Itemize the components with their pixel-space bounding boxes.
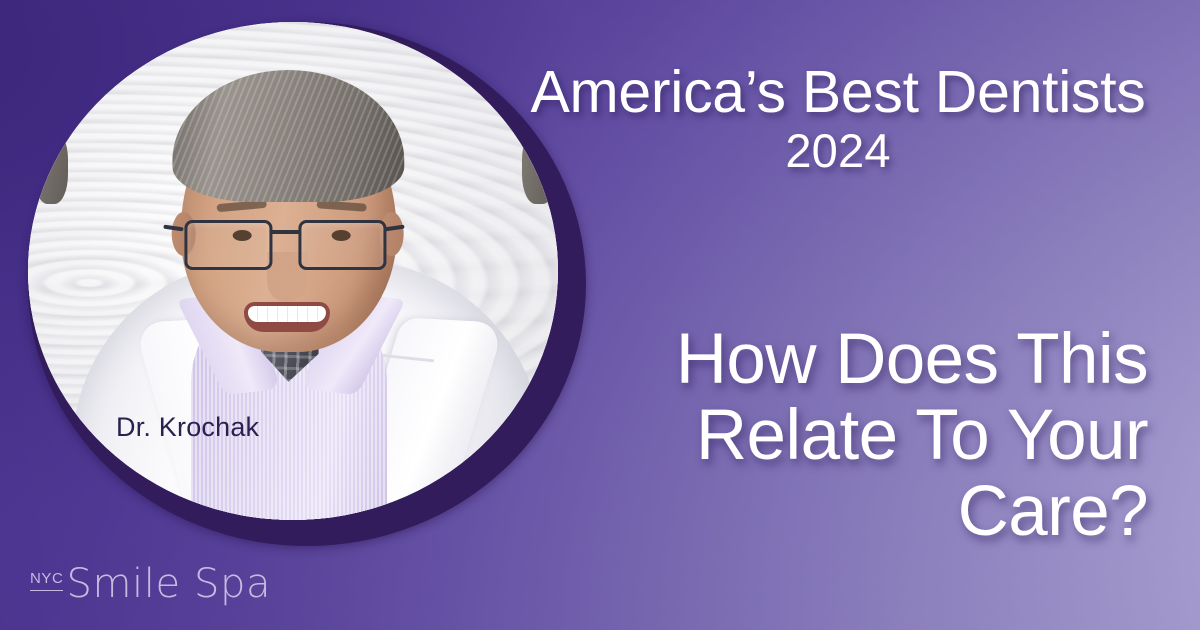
doctor-figure — [28, 22, 558, 520]
logo-wordmark: Smile Spa — [66, 565, 271, 604]
brand-logo[interactable]: NYC Smile Spa — [30, 565, 271, 604]
page-title: How Does This Relate To Your Care? — [508, 322, 1148, 550]
smiling-mouth — [244, 302, 330, 332]
award-title: America’s Best Dentists — [508, 62, 1168, 122]
headline-line-1: How Does This — [508, 322, 1148, 398]
doctor-name-label: Dr. Krochak — [116, 412, 259, 443]
hair — [172, 70, 404, 202]
eyeglass-lens-left — [184, 220, 272, 270]
headline-line-3: Care? — [508, 474, 1148, 550]
award-year: 2024 — [508, 122, 1168, 179]
eyeglass-bridge — [269, 230, 299, 234]
teeth — [248, 306, 326, 322]
portrait-photo: Dr. Krochak — [28, 22, 558, 520]
hair-side-left — [34, 130, 68, 204]
eyeglass-lens-right — [298, 220, 386, 270]
logo-prefix: NYC — [30, 565, 63, 591]
headline-line-2: Relate To Your — [508, 398, 1148, 474]
portrait-circle: Dr. Krochak — [28, 22, 586, 546]
eyeglasses-icon — [178, 216, 390, 270]
award-heading: America’s Best Dentists 2024 — [508, 62, 1168, 180]
promo-banner: Dr. Krochak America’s Best Dentists 2024… — [0, 0, 1200, 630]
